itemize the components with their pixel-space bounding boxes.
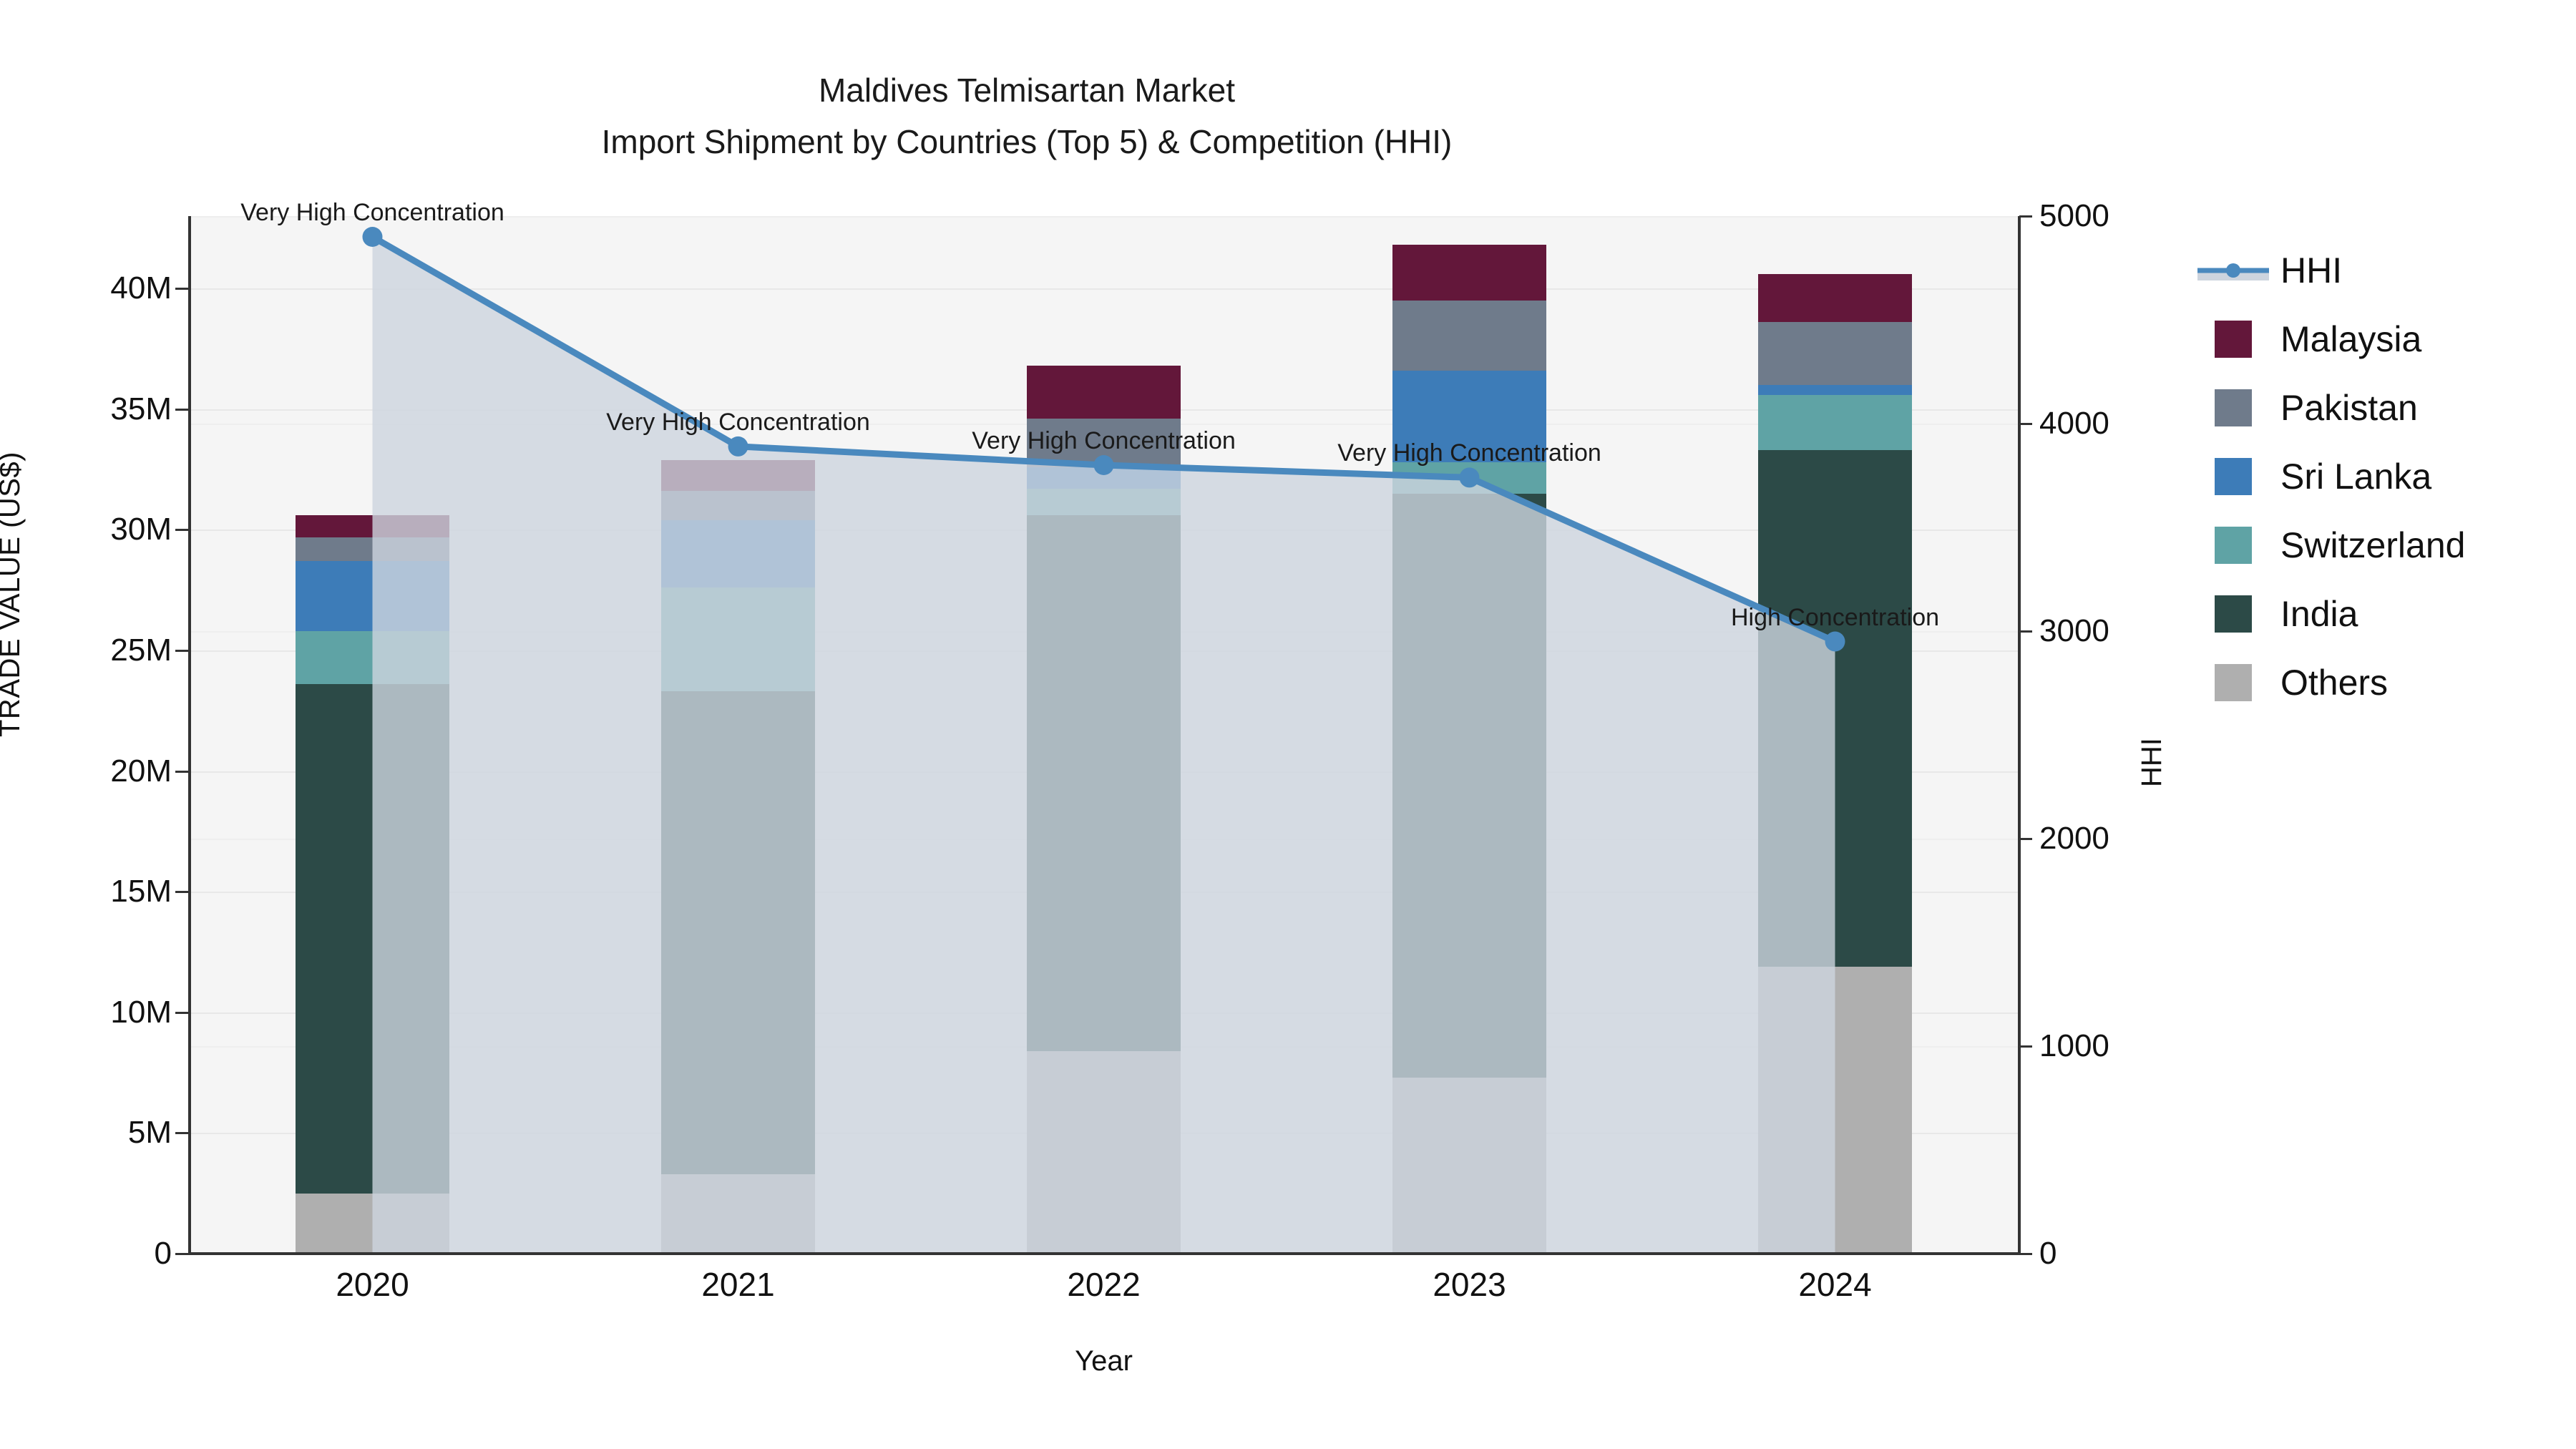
- hhi-line-overlay: [190, 216, 2018, 1254]
- legend-swatch-others: [2215, 664, 2252, 701]
- y-axis-left-title: TRADE VALUE (US$): [0, 452, 26, 737]
- annotation-2021: Very High Concentration: [606, 409, 870, 436]
- y-axis-right-tick-label: 1000: [2039, 1028, 2109, 1064]
- legend-swatch-pakistan: [2215, 389, 2252, 426]
- legend-swatch-malaysia: [2215, 321, 2252, 358]
- annotation-2024: High Concentration: [1731, 604, 1939, 632]
- y-axis-left-tick-label: 20M: [0, 753, 172, 789]
- y-axis-left-tick-label: 35M: [0, 391, 172, 427]
- legend-item-india[interactable]: India: [2215, 580, 2465, 648]
- legend-swatch-switzerland: [2215, 527, 2252, 564]
- y-axis-right-tick-mark: [2019, 1045, 2032, 1048]
- legend-label: Others: [2280, 662, 2388, 703]
- y-axis-left-tick-label: 10M: [0, 995, 172, 1030]
- y-axis-left-tick-mark: [175, 529, 188, 531]
- y-axis-left-tick-label: 40M: [0, 270, 172, 306]
- y-axis-right-tick-mark: [2019, 215, 2032, 218]
- y-axis-left-tick-mark: [175, 409, 188, 411]
- legend-label: HHI: [2280, 250, 2342, 291]
- legend-swatch-india: [2215, 595, 2252, 633]
- y-axis-right-tick-label: 0: [2039, 1236, 2057, 1272]
- chart-title-line-2: Import Shipment by Countries (Top 5) & C…: [0, 116, 2054, 167]
- y-axis-left-tick-mark: [175, 1132, 188, 1134]
- legend-label: India: [2280, 593, 2358, 635]
- chart-title-line-1: Maldives Telmisartan Market: [0, 64, 2054, 116]
- legend-label: Sri Lanka: [2280, 456, 2431, 497]
- chart-legend: HHIMalaysiaPakistanSri LankaSwitzerlandI…: [2215, 236, 2465, 717]
- x-axis-tick-label-2022: 2022: [1067, 1265, 1140, 1304]
- legend-line-icon: [2215, 252, 2252, 289]
- y-axis-right-line: [2018, 216, 2021, 1255]
- y-axis-left-line: [188, 216, 191, 1255]
- legend-swatch-sri-lanka: [2215, 458, 2252, 495]
- y-axis-right-tick-label: 5000: [2039, 198, 2109, 234]
- y-axis-left-tick-mark: [175, 771, 188, 773]
- legend-item-malaysia[interactable]: Malaysia: [2215, 305, 2465, 374]
- y-axis-left-tick-mark: [175, 1012, 188, 1014]
- x-axis-tick-label-2020: 2020: [336, 1265, 409, 1304]
- legend-label: Switzerland: [2280, 525, 2465, 566]
- legend-item-others[interactable]: Others: [2215, 648, 2465, 717]
- y-axis-left-tick-label: 5M: [0, 1115, 172, 1151]
- legend-label: Malaysia: [2280, 318, 2421, 360]
- annotation-2022: Very High Concentration: [972, 427, 1236, 455]
- x-axis-tick-label-2023: 2023: [1433, 1265, 1506, 1304]
- y-axis-left-tick-label: 0: [0, 1236, 172, 1272]
- y-axis-right-tick-mark: [2019, 838, 2032, 840]
- legend-item-hhi[interactable]: HHI: [2215, 236, 2465, 305]
- x-axis-tick-label-2024: 2024: [1798, 1265, 1871, 1304]
- y-axis-right-tick-label: 4000: [2039, 406, 2109, 441]
- legend-item-sri-lanka[interactable]: Sri Lanka: [2215, 442, 2465, 511]
- x-axis-tick-label-2021: 2021: [701, 1265, 774, 1304]
- legend-item-pakistan[interactable]: Pakistan: [2215, 374, 2465, 442]
- hhi-area-fill: [373, 237, 1835, 1254]
- y-axis-left-tick-mark: [175, 891, 188, 893]
- y-axis-right-tick-mark: [2019, 1253, 2032, 1255]
- hhi-point-2024[interactable]: [1825, 632, 1845, 652]
- y-axis-left-tick-label: 15M: [0, 874, 172, 909]
- y-axis-right-tick-label: 2000: [2039, 821, 2109, 857]
- legend-item-switzerland[interactable]: Switzerland: [2215, 511, 2465, 580]
- annotation-2023: Very High Concentration: [1337, 439, 1601, 467]
- x-axis-title: Year: [190, 1345, 2018, 1377]
- y-axis-right-tick-mark: [2019, 630, 2032, 633]
- hhi-point-2021[interactable]: [728, 436, 748, 457]
- y-axis-left-tick-mark: [175, 1253, 188, 1255]
- y-axis-left-tick-mark: [175, 288, 188, 290]
- y-axis-right-title: HHI: [2136, 738, 2168, 787]
- legend-label: Pakistan: [2280, 387, 2418, 429]
- hhi-point-2020[interactable]: [363, 227, 383, 247]
- x-axis-line: [188, 1252, 2020, 1255]
- y-axis-left-tick-mark: [175, 650, 188, 652]
- y-axis-right-tick-label: 3000: [2039, 613, 2109, 649]
- annotation-2020: Very High Concentration: [240, 199, 504, 227]
- chart-title: Maldives Telmisartan Market Import Shipm…: [0, 64, 2054, 167]
- y-axis-right-tick-mark: [2019, 423, 2032, 425]
- chart-figure: Maldives Telmisartan Market Import Shipm…: [0, 0, 2576, 1449]
- hhi-point-2022[interactable]: [1094, 455, 1114, 475]
- hhi-point-2023[interactable]: [1460, 467, 1480, 487]
